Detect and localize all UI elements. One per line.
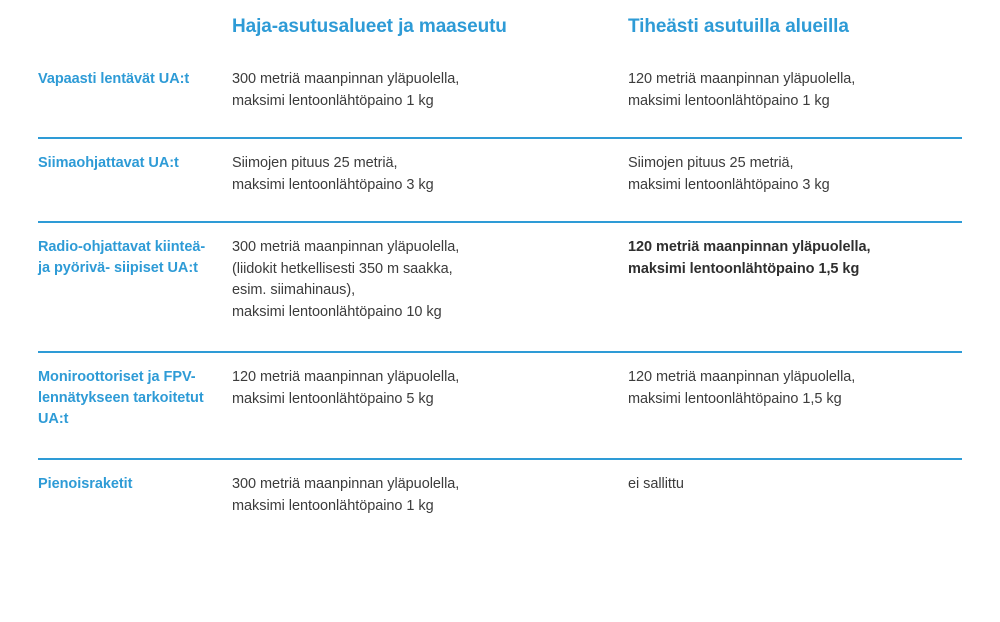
cell-col-b: 120 metriä maanpinnan yläpuolella, maksi… [628, 367, 1000, 410]
table-row: Radio-ohjattavat kiinteä- ja pyörivä- si… [0, 223, 1000, 351]
header-col-b: Tiheästi asutuilla alueilla [628, 15, 1000, 39]
cell-col-a: 300 metriä maanpinnan yläpuolella, maksi… [232, 474, 628, 517]
cell-col-a: 300 metriä maanpinnan yläpuolella, maksi… [232, 69, 628, 112]
table-row: Siimaohjattavat UA:t Siimojen pituus 25 … [0, 139, 1000, 221]
cell-col-b: ei sallittu [628, 474, 1000, 496]
table-row: Pienoisraketit 300 metriä maanpinnan ylä… [0, 460, 1000, 550]
cell-col-b: 120 metriä maanpinnan yläpuolella, maksi… [628, 237, 1000, 280]
divider-line [38, 137, 962, 139]
row-label: Moniroottoriset ja FPV-lennätykseen tark… [38, 367, 232, 430]
table-row: Moniroottoriset ja FPV-lennätykseen tark… [0, 353, 1000, 458]
row-divider [0, 458, 1000, 460]
table-row: Vapaasti lentävät UA:t 300 metriä maanpi… [0, 55, 1000, 137]
divider-line [38, 351, 962, 353]
row-label: Pienoisraketit [38, 474, 232, 495]
cell-col-b: 120 metriä maanpinnan yläpuolella, maksi… [628, 69, 1000, 112]
cell-col-a: 300 metriä maanpinnan yläpuolella, (liid… [232, 237, 628, 323]
divider-line [38, 458, 962, 460]
row-label: Vapaasti lentävät UA:t [38, 69, 232, 90]
cell-col-a: Siimojen pituus 25 metriä, maksimi lento… [232, 153, 628, 196]
row-divider [0, 351, 1000, 353]
row-label: Siimaohjattavat UA:t [38, 153, 232, 174]
divider-line [38, 221, 962, 223]
cell-col-b: Siimojen pituus 25 metriä, maksimi lento… [628, 153, 1000, 196]
table-header-row: Haja-asutusalueet ja maaseutu Tiheästi a… [0, 0, 1000, 55]
rules-table: Haja-asutusalueet ja maaseutu Tiheästi a… [0, 0, 1000, 622]
header-col-a: Haja-asutusalueet ja maaseutu [232, 15, 628, 39]
row-label: Radio-ohjattavat kiinteä- ja pyörivä- si… [38, 237, 232, 279]
cell-col-a: 120 metriä maanpinnan yläpuolella, maksi… [232, 367, 628, 410]
row-divider [0, 137, 1000, 139]
row-divider [0, 221, 1000, 223]
